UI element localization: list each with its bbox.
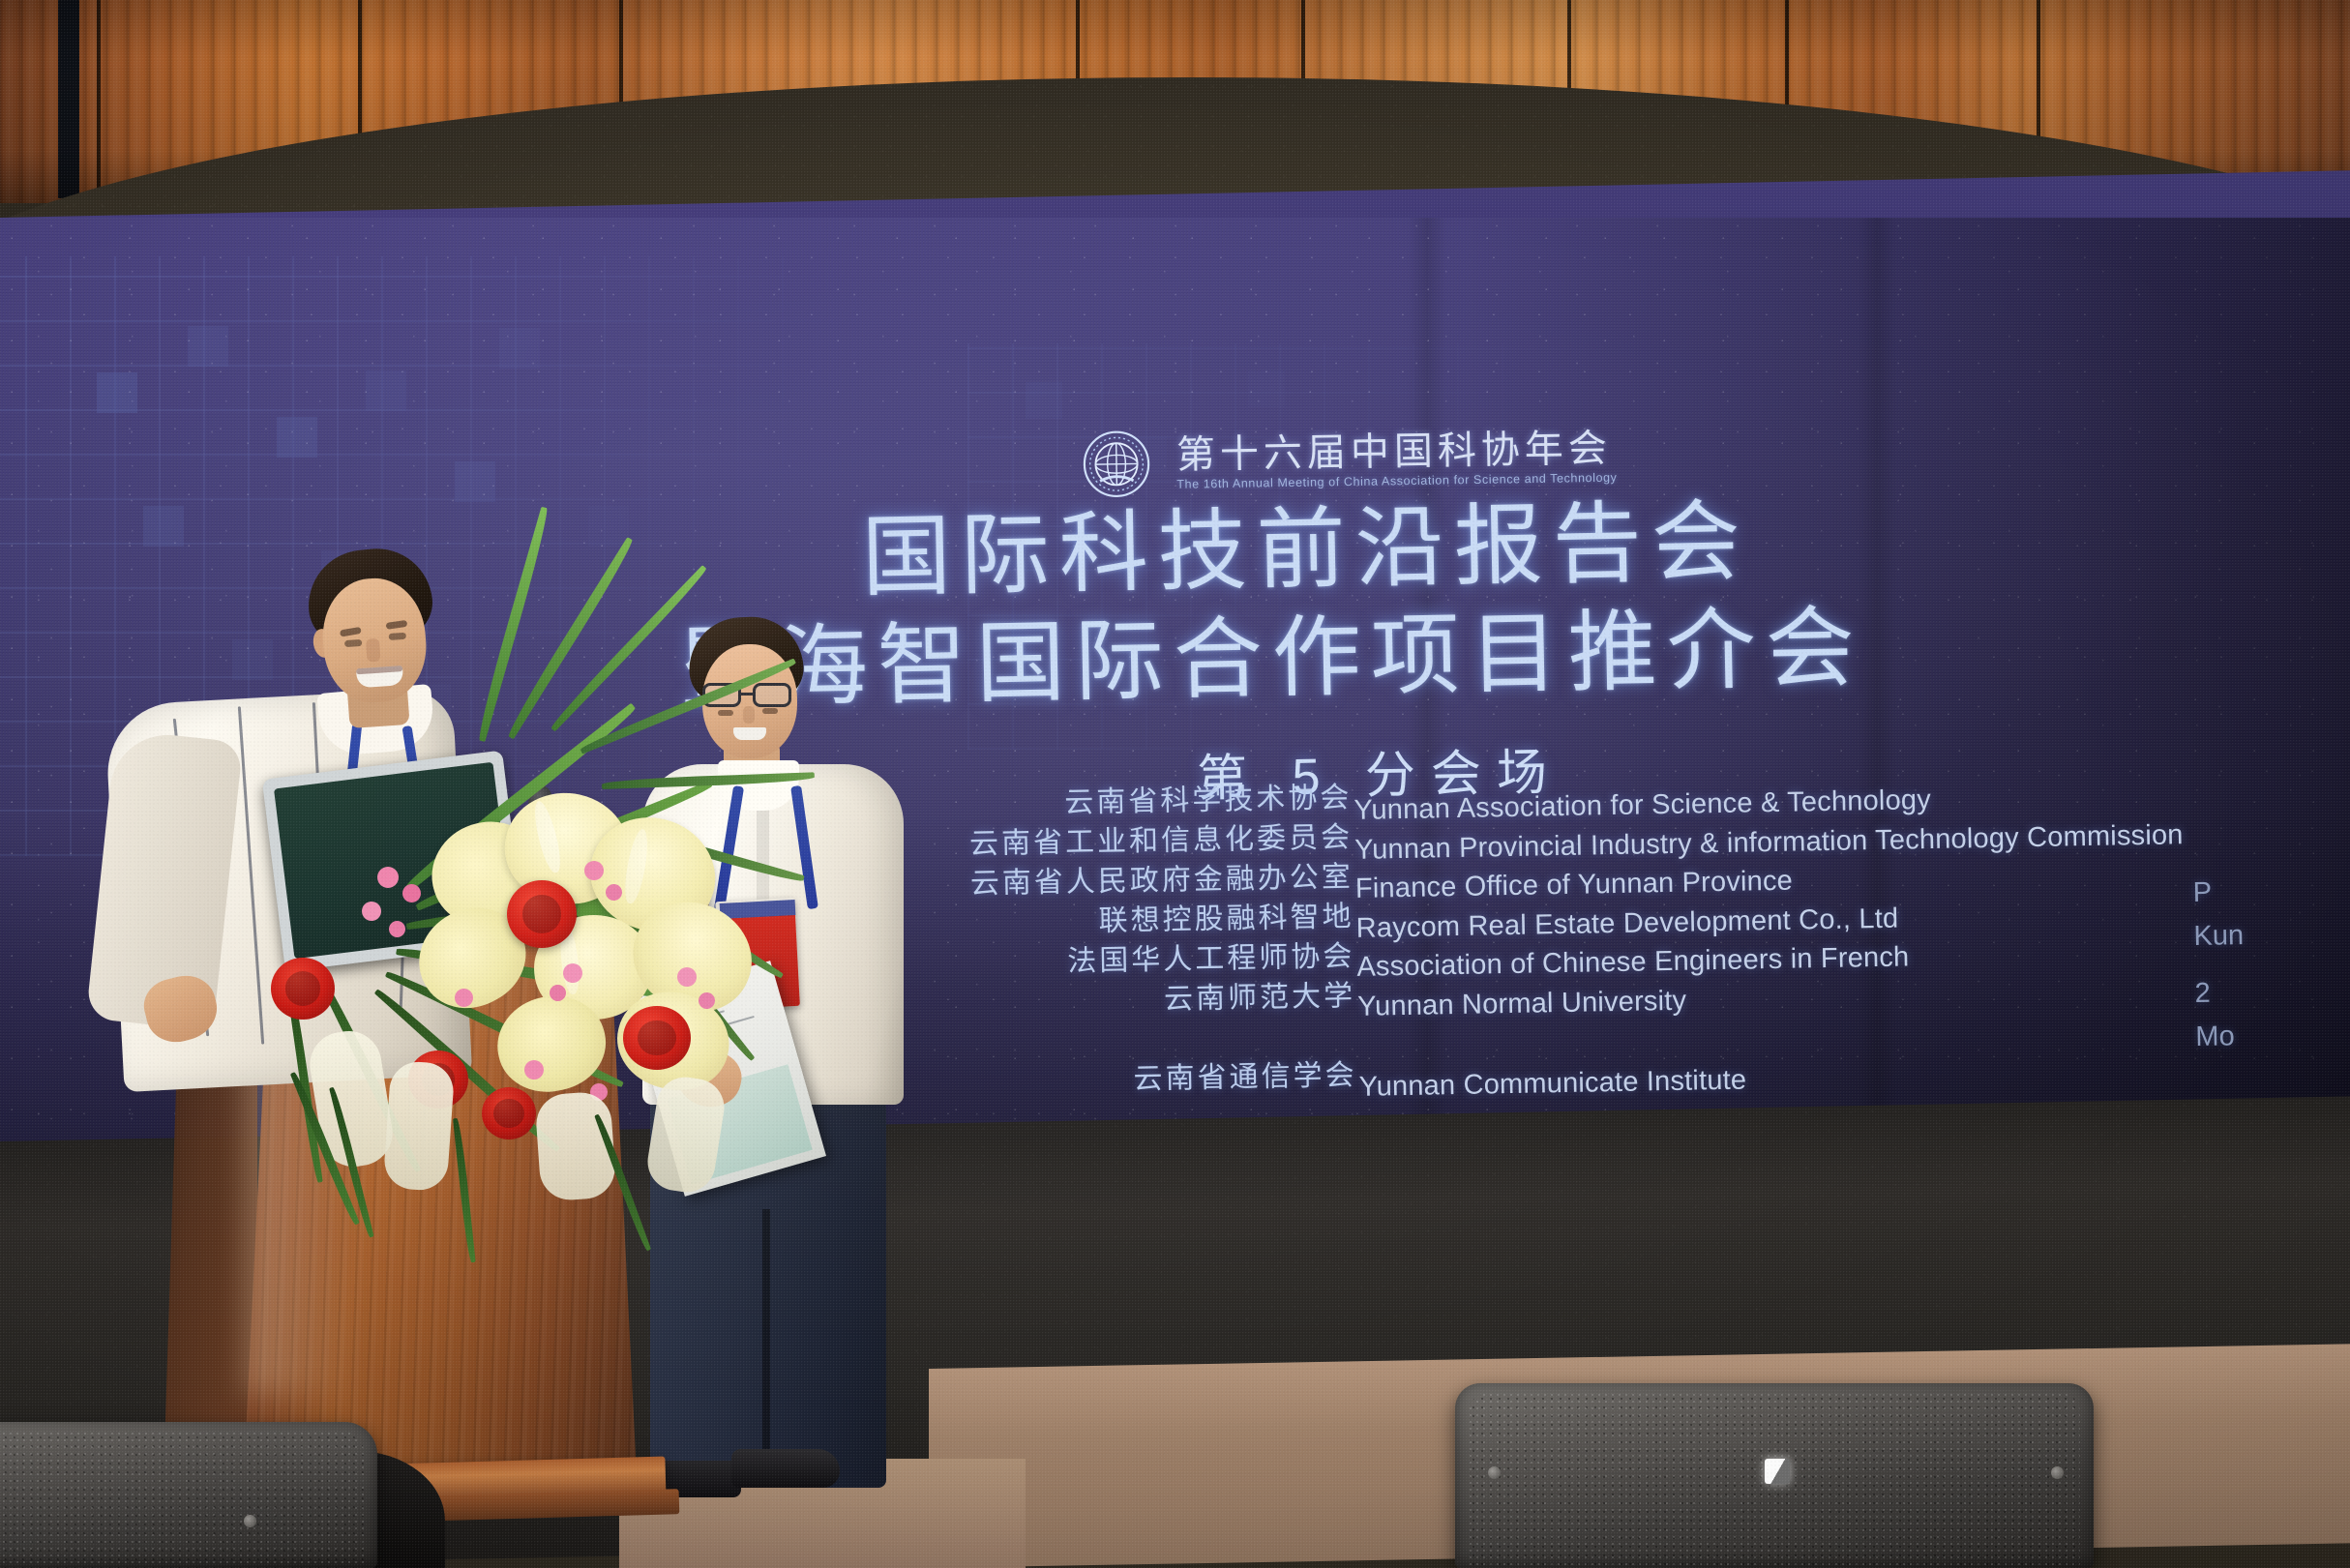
rose — [271, 958, 335, 1020]
venue-line-2: Kun — [2193, 909, 2350, 959]
banner-title-line2: 暨海智国际合作项目推介会 — [679, 604, 1864, 714]
monitor-screw — [244, 1515, 256, 1527]
venue-line-3: 2 — [2194, 966, 2350, 1016]
venue-line-4: Mo — [2195, 1010, 2350, 1059]
rose — [507, 880, 577, 948]
rose — [623, 1006, 691, 1070]
conference-stage-photo: 第十六届中国科协年会 The 16th Annual Meeting of Ch… — [0, 0, 2350, 1568]
banner-header-cn: 第十六届中国科协年会 — [1176, 429, 1618, 476]
monitor-screw — [1488, 1466, 1501, 1479]
cast-globe-emblem-icon — [1081, 429, 1151, 499]
rose — [482, 1087, 536, 1139]
banner-venue-info: P Kun 2 Mo — [2192, 866, 2350, 1059]
banner-header: 第十六届中国科协年会 The 16th Annual Meeting of Ch… — [1081, 422, 1617, 500]
guest-shoe-right — [731, 1449, 840, 1488]
venue-line-1: P — [2192, 866, 2350, 915]
banner-title-line1: 国际科技前沿报告会 — [861, 497, 1751, 603]
monitor-grille — [0, 1432, 364, 1568]
monitor-screw — [2051, 1466, 2064, 1479]
monitor-power-led — [1765, 1459, 1790, 1484]
stage-wedge-monitor-right — [1455, 1383, 2094, 1568]
floral-arrangement — [261, 677, 784, 1170]
stage-wedge-monitor-left — [0, 1422, 377, 1568]
guest-leg-split — [762, 1209, 770, 1480]
